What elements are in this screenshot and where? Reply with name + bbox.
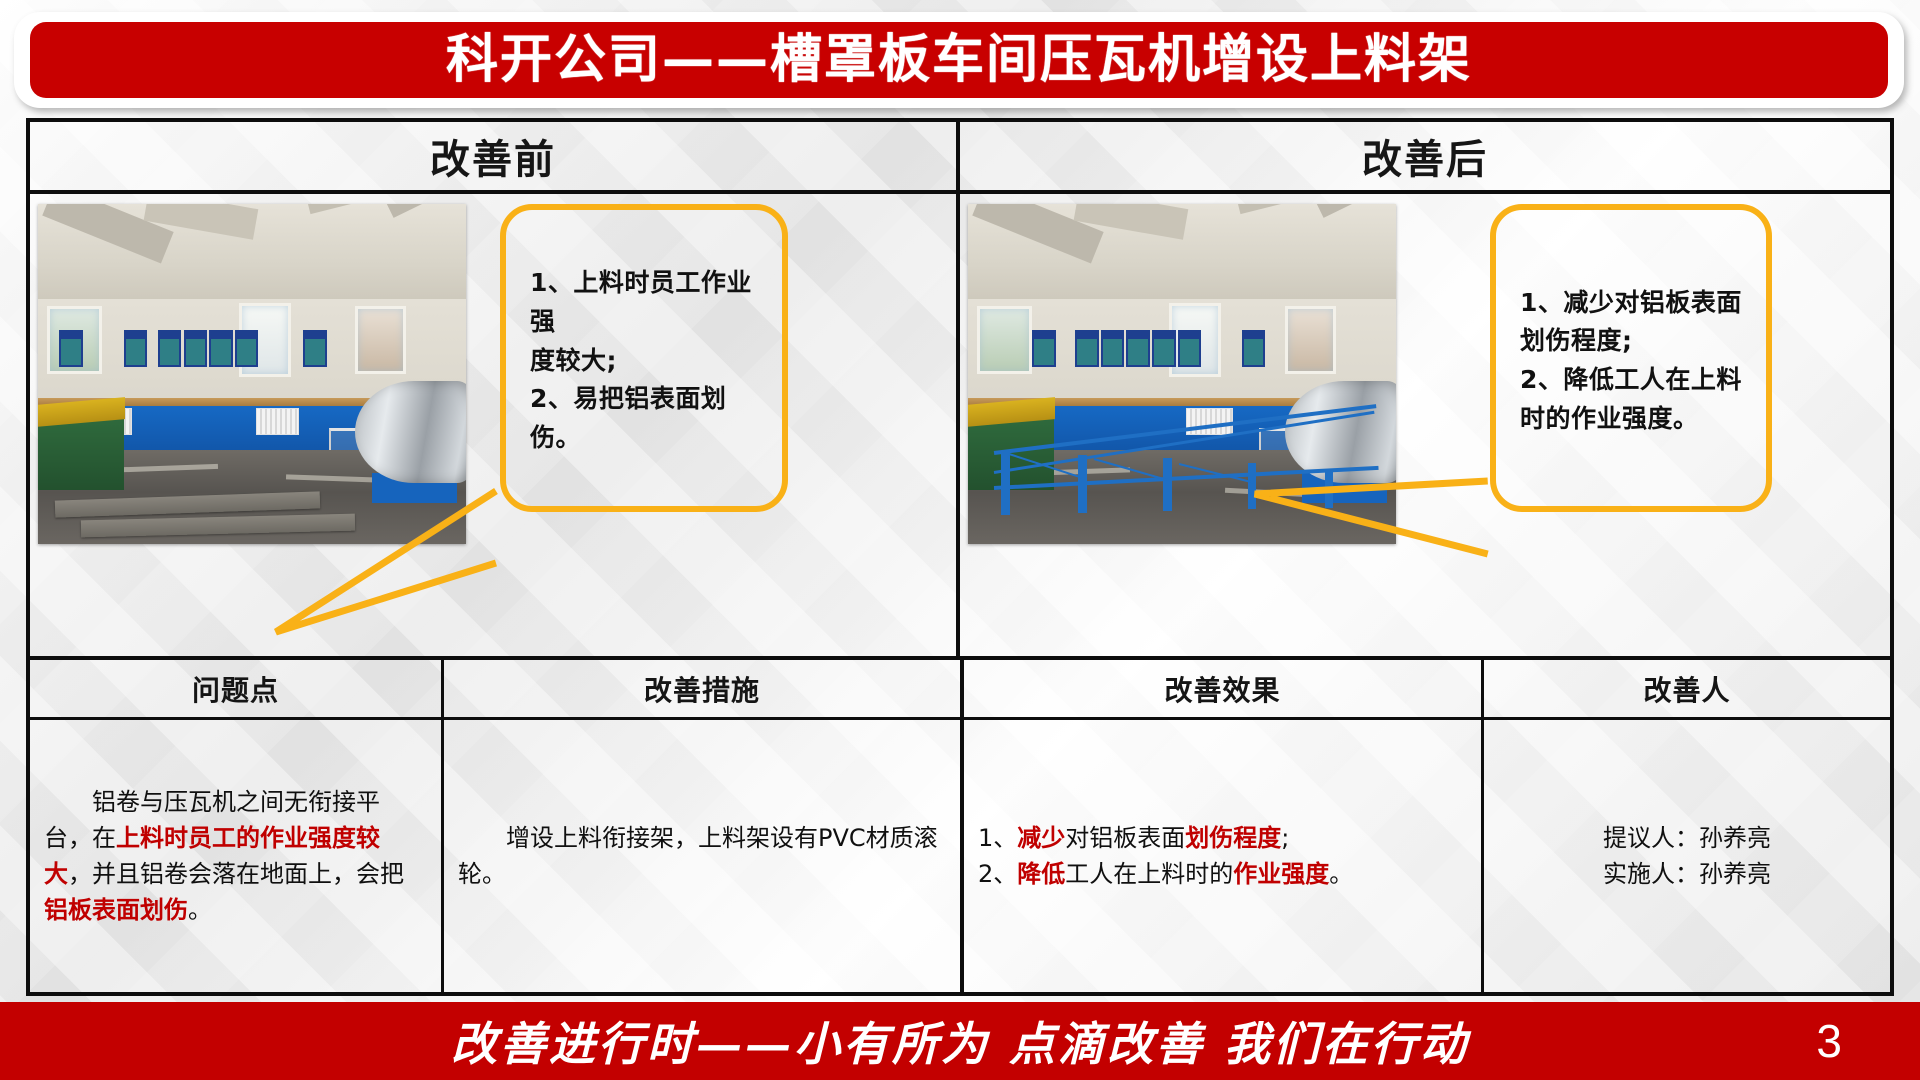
column-header-effect: 改善效果 (964, 660, 1484, 717)
green-machine (38, 415, 124, 490)
effect-line-2-highlight-2: 作业强度 (1233, 860, 1329, 888)
table-row: 铝卷与压瓦机之间无衔接平台，在上料时员工的作业强度较大，并且铝卷会落在地面上，会… (30, 720, 1890, 992)
window (977, 306, 1033, 374)
notice-board (124, 330, 148, 367)
before-callout-line-1: 1、上料时员工作业强 (530, 264, 766, 342)
rack-leg (1078, 455, 1086, 513)
before-photo-scene (38, 204, 466, 544)
section-header-before-cell: 改善前 (30, 122, 960, 190)
window (355, 306, 406, 374)
effect-line-1: 1、减少对铝板表面划伤程度; (978, 820, 1467, 856)
effect-line-1-highlight-2: 划伤程度 (1185, 824, 1281, 852)
section-title-before: 改善前 (430, 127, 556, 185)
cell-person: 提议人：孙养亮 实施人：孙养亮 (1484, 720, 1890, 992)
after-callout-line-2: 划伤程度; (1520, 322, 1750, 361)
implementer-name: 孙养亮 (1699, 860, 1771, 888)
notice-board (1242, 330, 1266, 367)
after-photo (968, 204, 1396, 544)
problem-text-part-2: ，并且铝卷会落在地面上，会把 (68, 860, 404, 888)
after-callout: 1、减少对铝板表面 划伤程度; 2、降低工人在上料 时的作业强度。 (1490, 204, 1772, 512)
cell-measure: 增设上料衔接架，上料架设有PVC材质滚轮。 (444, 720, 964, 992)
effect-line-1-highlight-1: 减少 (1017, 824, 1065, 852)
window (1285, 306, 1336, 374)
implementer-label: 实施人： (1603, 860, 1699, 888)
notice-board (1075, 330, 1099, 367)
after-callout-line-1: 1、减少对铝板表面 (1520, 284, 1750, 323)
new-loading-rack (994, 435, 1379, 523)
radiator (256, 408, 299, 435)
effect-line-2-number: 2、 (978, 860, 1017, 888)
column-header-measure: 改善措施 (444, 660, 964, 717)
notice-board (1032, 330, 1056, 367)
proposer-name: 孙养亮 (1699, 824, 1771, 852)
section-header-row: 改善前 改善后 (30, 122, 1890, 194)
before-callout-line-2: 度较大; (530, 342, 766, 381)
after-photo-scene (968, 204, 1396, 544)
column-header-person: 改善人 (1484, 660, 1890, 717)
before-callout-line-3: 2、易把铝表面划伤。 (530, 380, 766, 458)
rack-leg (1325, 469, 1333, 508)
effect-line-1-number: 1、 (978, 824, 1017, 852)
photo-row: 1、上料时员工作业强 度较大; 2、易把铝表面划伤。 (30, 194, 1890, 660)
column-header-measure-label: 改善措施 (644, 669, 760, 709)
after-callout-line-4: 时的作业强度。 (1520, 400, 1750, 439)
section-header-after-cell: 改善后 (960, 122, 1890, 190)
column-header-effect-label: 改善效果 (1164, 669, 1280, 709)
notice-board (1152, 330, 1176, 367)
page-number: 3 (1816, 1014, 1842, 1068)
footer-slogan: 改善进行时——小有所为 点滴改善 我们在行动 (451, 1008, 1469, 1074)
before-callout: 1、上料时员工作业强 度较大; 2、易把铝表面划伤。 (500, 204, 788, 512)
footer-bar: 改善进行时——小有所为 点滴改善 我们在行动 3 (0, 1002, 1920, 1080)
notice-board (303, 330, 327, 367)
proposer-label: 提议人： (1603, 824, 1699, 852)
effect-line-2-middle: 工人在上料时的 (1065, 860, 1233, 888)
page-title: 科开公司——槽罩板车间压瓦机增设上料架 (446, 34, 1472, 86)
title-bar: 科开公司——槽罩板车间压瓦机增设上料架 (30, 22, 1888, 98)
measure-text: 增设上料衔接架，上料架设有PVC材质滚轮。 (458, 820, 946, 892)
effect-line-1-end: ; (1281, 824, 1289, 852)
implementer-row: 实施人：孙养亮 (1498, 856, 1876, 892)
after-callout-line-3: 2、降低工人在上料 (1520, 361, 1750, 400)
aluminum-coil (355, 381, 466, 483)
problem-text-part-3: 。 (188, 896, 212, 924)
effect-line-2: 2、降低工人在上料时的作业强度。 (978, 856, 1467, 892)
column-header-row: 问题点 改善措施 改善效果 改善人 (30, 660, 1890, 720)
column-header-person-label: 改善人 (1643, 669, 1730, 709)
problem-text: 铝卷与压瓦机之间无衔接平台，在上料时员工的作业强度较大，并且铝卷会落在地面上，会… (44, 784, 427, 928)
before-panel: 1、上料时员工作业强 度较大; 2、易把铝表面划伤。 (30, 194, 960, 656)
notice-board (184, 330, 208, 367)
notice-board (209, 330, 233, 367)
section-title-after: 改善后 (1362, 127, 1488, 185)
rack-leg (1001, 451, 1009, 515)
title-banner: 科开公司——槽罩板车间压瓦机增设上料架 (14, 12, 1904, 108)
rack-leg (1248, 463, 1256, 509)
notice-board (1178, 330, 1202, 367)
before-photo (38, 204, 466, 544)
notice-board (158, 330, 182, 367)
rack-leg (1163, 458, 1171, 511)
notice-board (235, 330, 259, 367)
column-header-problem: 问题点 (30, 660, 444, 717)
cell-problem: 铝卷与压瓦机之间无衔接平台，在上料时员工的作业强度较大，并且铝卷会落在地面上，会… (30, 720, 444, 992)
notice-board (1101, 330, 1125, 367)
rack-beam (994, 466, 1379, 490)
after-panel: 1、减少对铝板表面 划伤程度; 2、降低工人在上料 时的作业强度。 (960, 194, 1890, 656)
effect-line-1-middle: 对铝板表面 (1065, 824, 1185, 852)
problem-highlight-2: 铝板表面划伤 (44, 896, 188, 924)
effect-line-2-end: 。 (1329, 860, 1353, 888)
proposer-row: 提议人：孙养亮 (1498, 820, 1876, 856)
notice-board (1126, 330, 1150, 367)
effect-line-2-highlight-1: 降低 (1017, 860, 1065, 888)
main-table: 改善前 改善后 (26, 118, 1894, 996)
column-header-problem-label: 问题点 (192, 669, 279, 709)
notice-board (59, 330, 83, 367)
cell-effect: 1、减少对铝板表面划伤程度; 2、降低工人在上料时的作业强度。 (964, 720, 1484, 992)
